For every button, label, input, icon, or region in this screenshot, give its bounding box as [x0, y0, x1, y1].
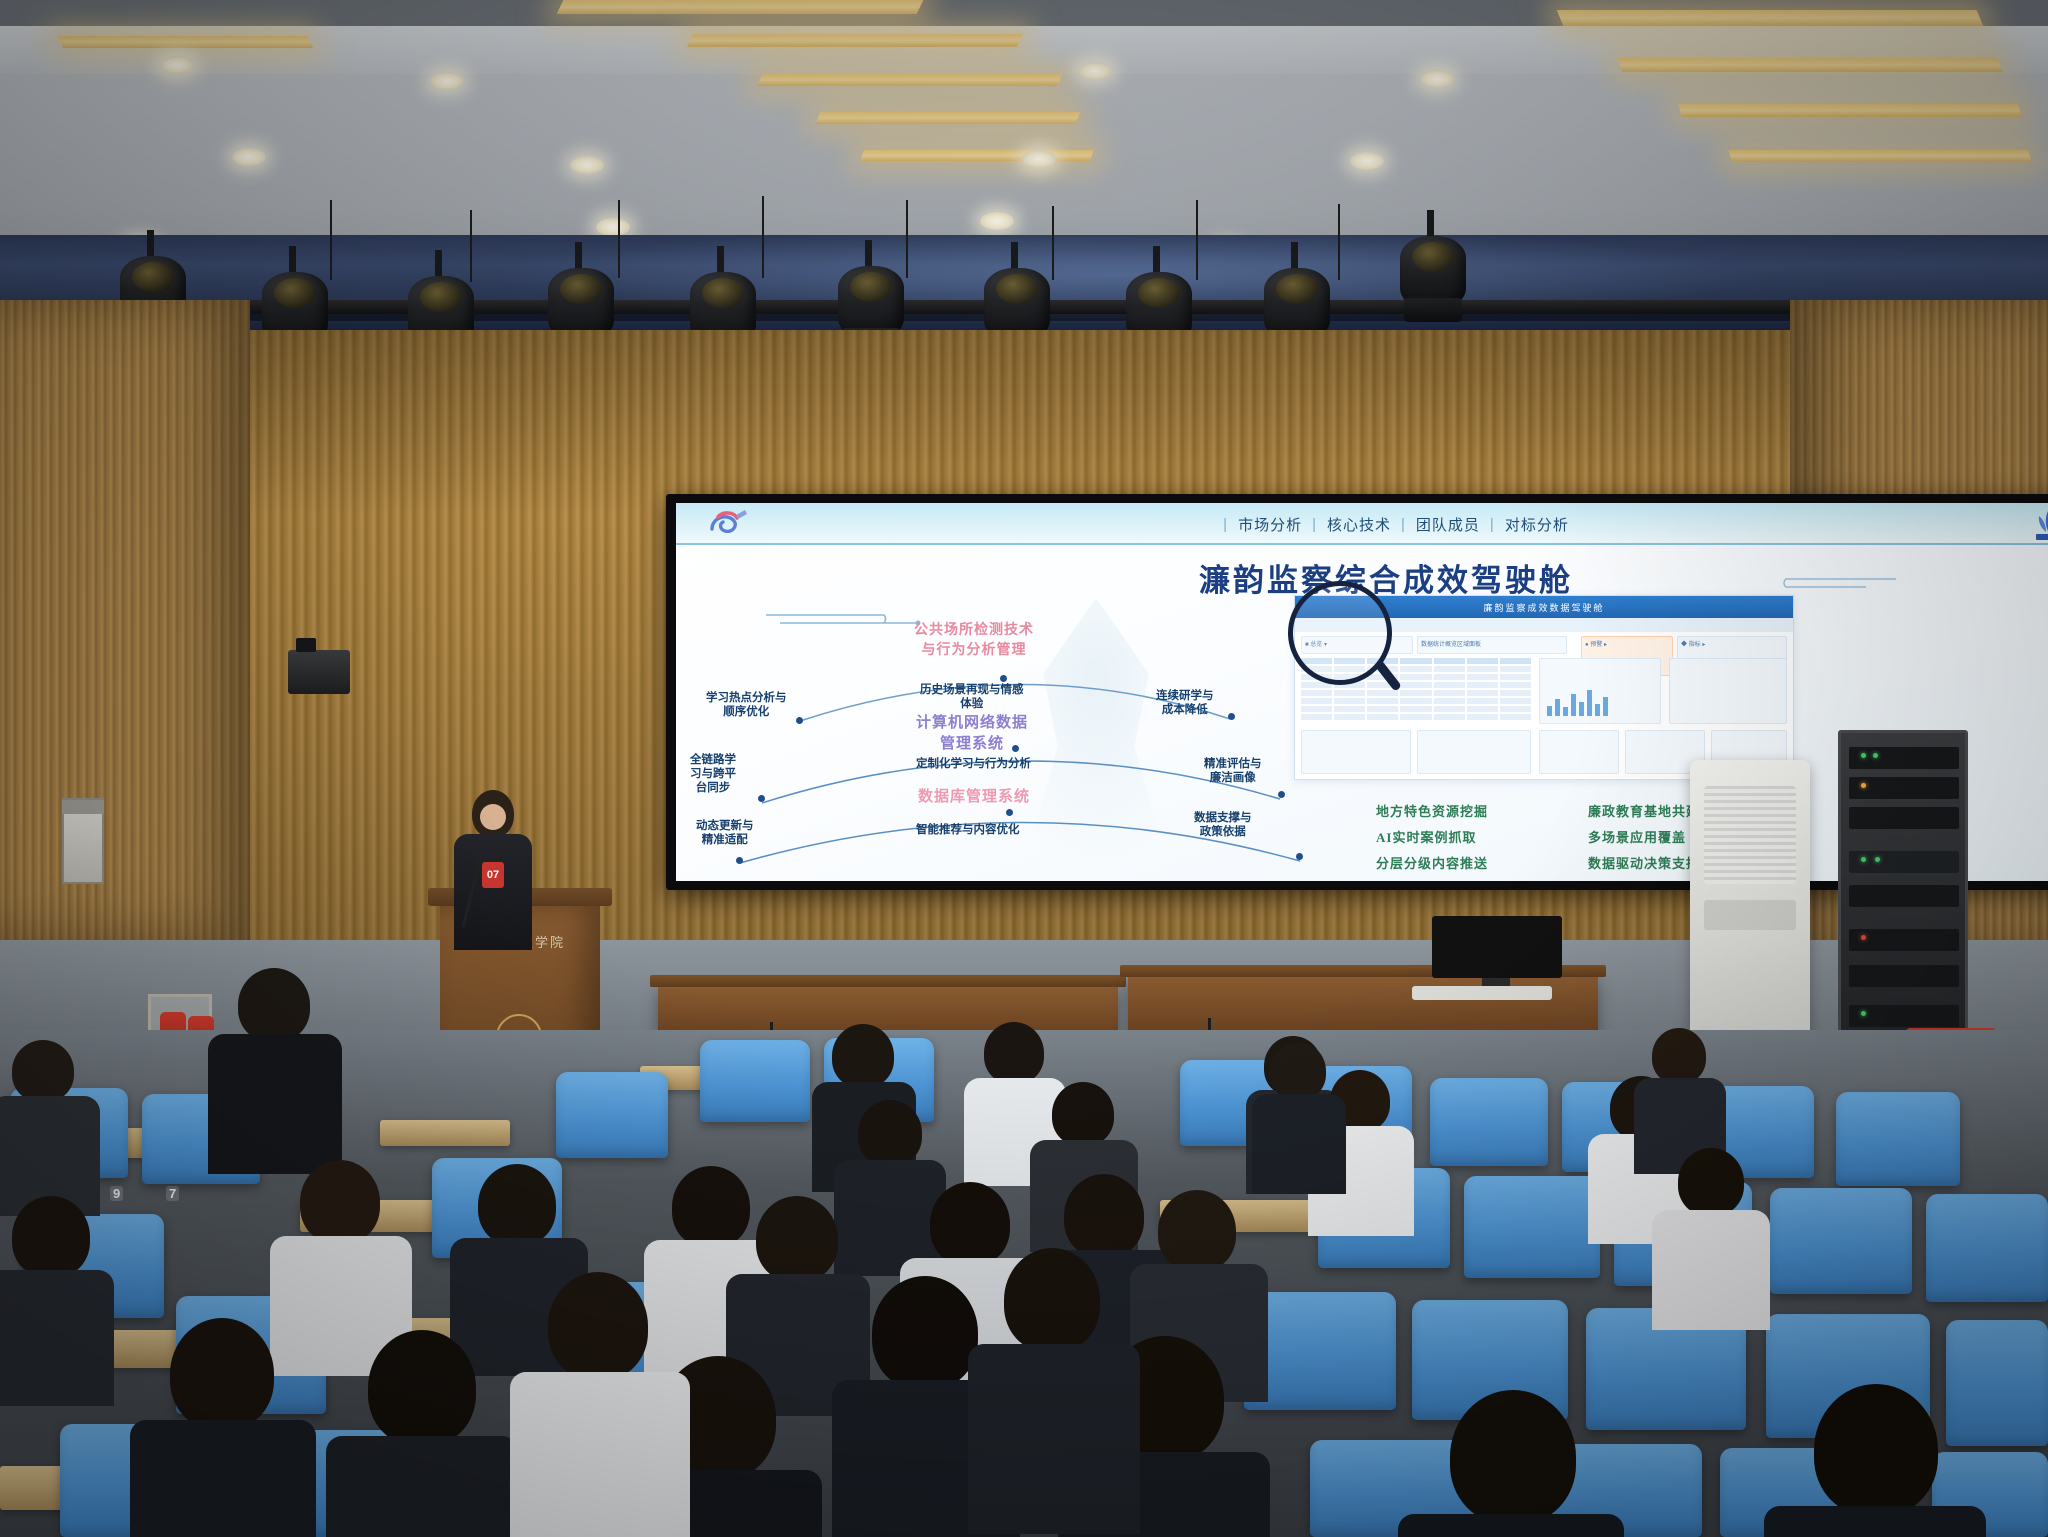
status-led	[1861, 935, 1866, 940]
bullet-item: 廉政教育基地共建	[1588, 799, 1700, 825]
cove-light-strip	[816, 112, 1080, 124]
auditorium-scene: | 市场分析 | 核心技术 | 团队成员 | 对标分析 濂韵监察综合成效驾驶舱	[0, 0, 2048, 1537]
seat[interactable]	[1946, 1320, 2048, 1446]
stage-par-light	[1400, 236, 1466, 328]
cove-light-strip	[1678, 104, 2022, 117]
air-conditioner	[1690, 760, 1810, 1060]
leaf-label-full-chain: 全链路学 习与跨平 台同步	[690, 753, 736, 795]
leaf-label-learning-hotspot: 学习热点分析与 顺序优化	[706, 691, 787, 719]
lotus-logo-icon	[2022, 505, 2048, 543]
nav-item-team[interactable]: 团队成员	[1406, 514, 1490, 535]
wave-logo-icon	[704, 507, 748, 541]
leaf-label-custom-learning: 定制化学习与行为分析	[916, 757, 1031, 771]
desk-monitor	[1432, 916, 1562, 978]
status-led	[1861, 1011, 1866, 1016]
presenter-badge: 07	[482, 862, 504, 888]
bullet-item: AI实时案例抓取	[1376, 825, 1488, 851]
status-led	[1861, 857, 1866, 862]
magnifier-icon	[1288, 581, 1400, 693]
leaf-label-data-support: 数据支撑与 政策依据	[1194, 811, 1252, 839]
arc-diagram: 公共场所检测技术 与行为分析管理 计算机网络数据 管理系统 数据库管理系统 学习…	[700, 613, 1340, 875]
left-wall	[0, 300, 250, 940]
bullets-right: 廉政教育基地共建 多场景应用覆盖 数据驱动决策支持	[1588, 799, 1700, 877]
lighting-truss	[120, 300, 1840, 314]
nav-item-market-analysis[interactable]: 市场分析	[1228, 514, 1312, 535]
seat[interactable]	[1836, 1092, 1960, 1186]
decorative-line	[1746, 575, 1896, 589]
seat[interactable]	[1464, 1176, 1600, 1278]
bullet-item: 数据驱动决策支持	[1588, 851, 1700, 877]
leaf-label-smart-recommend: 智能推荐与内容优化	[916, 823, 1020, 837]
status-led	[1873, 753, 1878, 758]
cove-light-strip	[687, 34, 1023, 47]
cove-light-strip	[860, 150, 1094, 161]
dashboard-bar-chart	[1547, 690, 1608, 716]
keyboard	[1412, 986, 1552, 1000]
cove-light-strip	[57, 36, 313, 48]
bullet-item: 分层分级内容推送	[1376, 851, 1488, 877]
leaf-label-continuous-study: 连续研学与 成本降低	[1156, 689, 1214, 717]
nav-item-core-tech[interactable]: 核心技术	[1317, 514, 1401, 535]
seat-number: 9	[110, 1186, 123, 1201]
bullet-item: 地方特色资源挖掘	[1376, 799, 1488, 825]
cove-light-strip	[1557, 10, 1983, 26]
seat-number: 7	[166, 1186, 179, 1201]
bullet-item: 多场景应用覆盖	[1588, 825, 1700, 851]
cove-light-strip	[1728, 150, 2031, 162]
equipment-rack[interactable]	[1838, 730, 1968, 1060]
category-label-1: 公共场所检测技术 与行为分析管理	[914, 619, 1034, 659]
bullets-left: 地方特色资源挖掘 AI实时案例抓取 分层分级内容推送	[1376, 799, 1488, 877]
leaf-label-precise-eval: 精准评估与 廉洁画像	[1204, 757, 1262, 785]
camera-icon	[296, 638, 316, 652]
status-led	[1861, 783, 1866, 788]
leaf-label-dynamic-update: 动态更新与 精准适配	[696, 819, 754, 847]
seat-desk	[380, 1120, 510, 1146]
status-led	[1861, 753, 1866, 758]
cove-light-strip	[557, 0, 924, 14]
seat[interactable]	[556, 1072, 668, 1158]
leaf-label-historical-scene: 历史场景再现与情感 体验	[920, 683, 1024, 711]
slide-nav: | 市场分析 | 核心技术 | 团队成员 | 对标分析	[826, 511, 1976, 537]
nav-item-benchmark[interactable]: 对标分析	[1495, 514, 1579, 535]
seat[interactable]	[700, 1040, 810, 1122]
cove-light-strip	[1617, 58, 2002, 72]
seat[interactable]	[1926, 1194, 2048, 1302]
seat[interactable]	[1770, 1188, 1912, 1294]
category-label-3: 数据库管理系统	[918, 785, 1030, 806]
status-led	[1875, 857, 1880, 862]
seat[interactable]	[1430, 1078, 1548, 1166]
wall-speaker-left	[288, 650, 350, 694]
cove-light-strip	[758, 74, 1063, 86]
